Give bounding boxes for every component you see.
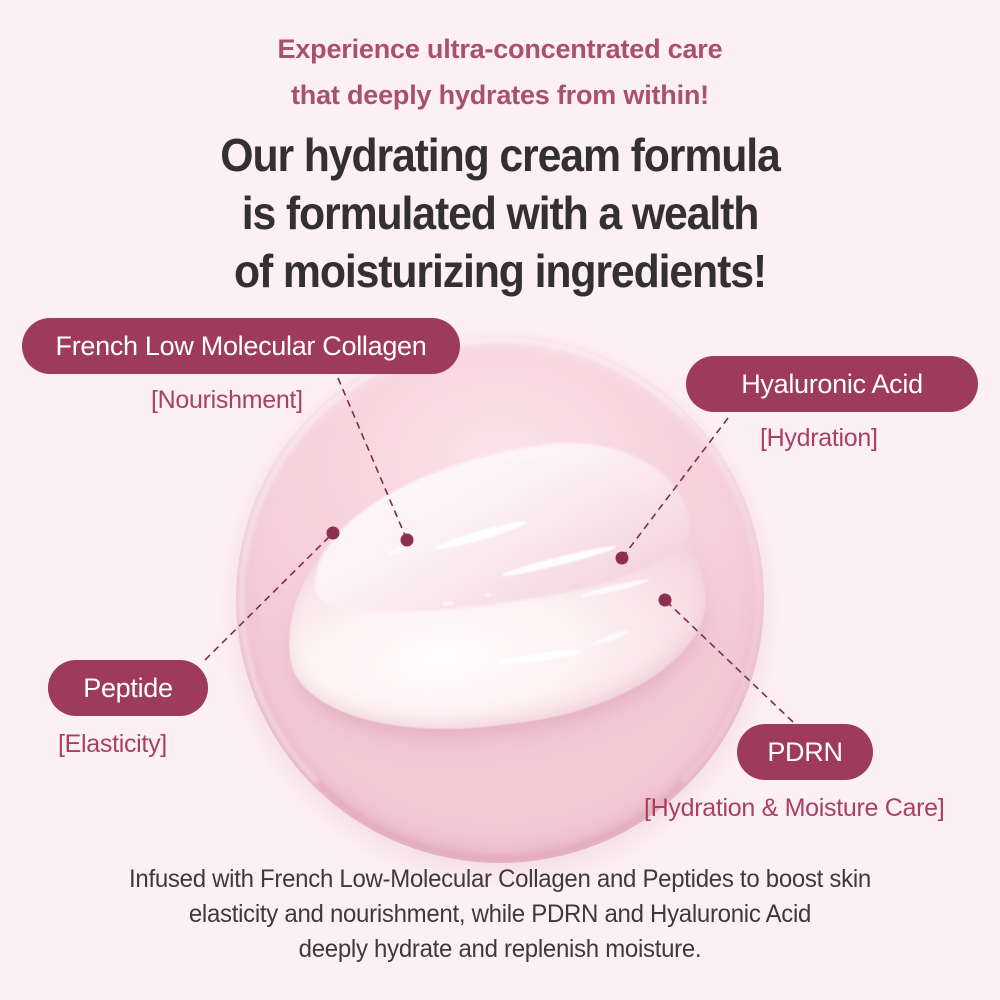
headline-line-3: of moisturizing ingredients! [35, 242, 965, 300]
cream-shadow [298, 604, 666, 733]
ingredient-pill-label: French Low Molecular Collagen [56, 331, 427, 362]
cream-swatch [270, 440, 719, 749]
footnote-line-2: elasticity and nourishment, while PDRN a… [20, 897, 980, 932]
headline-line-1: Our hydrating cream formula [35, 126, 965, 184]
headline-line-2: is formulated with a wealth [35, 184, 965, 242]
ingredient-pill-label: Peptide [83, 673, 172, 704]
subtitle-line-2: that deeply hydrates from within! [0, 72, 1000, 118]
cream-glint [498, 647, 584, 667]
ingredient-pill-collagen[interactable]: French Low Molecular Collagen [22, 318, 460, 374]
ingredient-benefit-collagen: [Nourishment] [151, 386, 303, 415]
ingredient-pill-hyaluronic-acid[interactable]: Hyaluronic Acid [686, 356, 978, 412]
cream-glint [590, 628, 630, 647]
ingredient-pill-peptide[interactable]: Peptide [48, 660, 208, 716]
cream-swatch-highlight-lobe [299, 424, 698, 632]
footnote: Infused with French Low-Molecular Collag… [20, 862, 980, 967]
cream-glint [580, 577, 650, 599]
ingredient-pill-label: PDRN [767, 737, 842, 768]
ingredient-pill-pdrn[interactable]: PDRN [737, 724, 873, 780]
cream-glint [386, 542, 412, 556]
subtitle-line-1: Experience ultra-concentrated care [0, 26, 1000, 72]
infographic-canvas: Experience ultra-concentrated care that … [0, 0, 1000, 1000]
cream-glint [484, 593, 492, 597]
ingredient-benefit-peptide: [Elasticity] [58, 730, 167, 759]
cream-glint [433, 518, 528, 553]
cream-glint [442, 601, 454, 606]
footnote-line-1: Infused with French Low-Molecular Collag… [20, 862, 980, 897]
cream-glint [501, 543, 617, 579]
ingredient-benefit-hyaluronic-acid: [Hydration] [760, 424, 878, 453]
cream-circle [236, 335, 764, 863]
product-cream-illustration [236, 335, 764, 863]
footnote-line-3: deeply hydrate and replenish moisture. [20, 932, 980, 967]
headline: Our hydrating cream formula is formulate… [35, 126, 965, 300]
ingredient-benefit-pdrn: [Hydration & Moisture Care] [644, 794, 944, 823]
subtitle: Experience ultra-concentrated care that … [0, 26, 1000, 118]
ingredient-pill-label: Hyaluronic Acid [741, 369, 923, 400]
